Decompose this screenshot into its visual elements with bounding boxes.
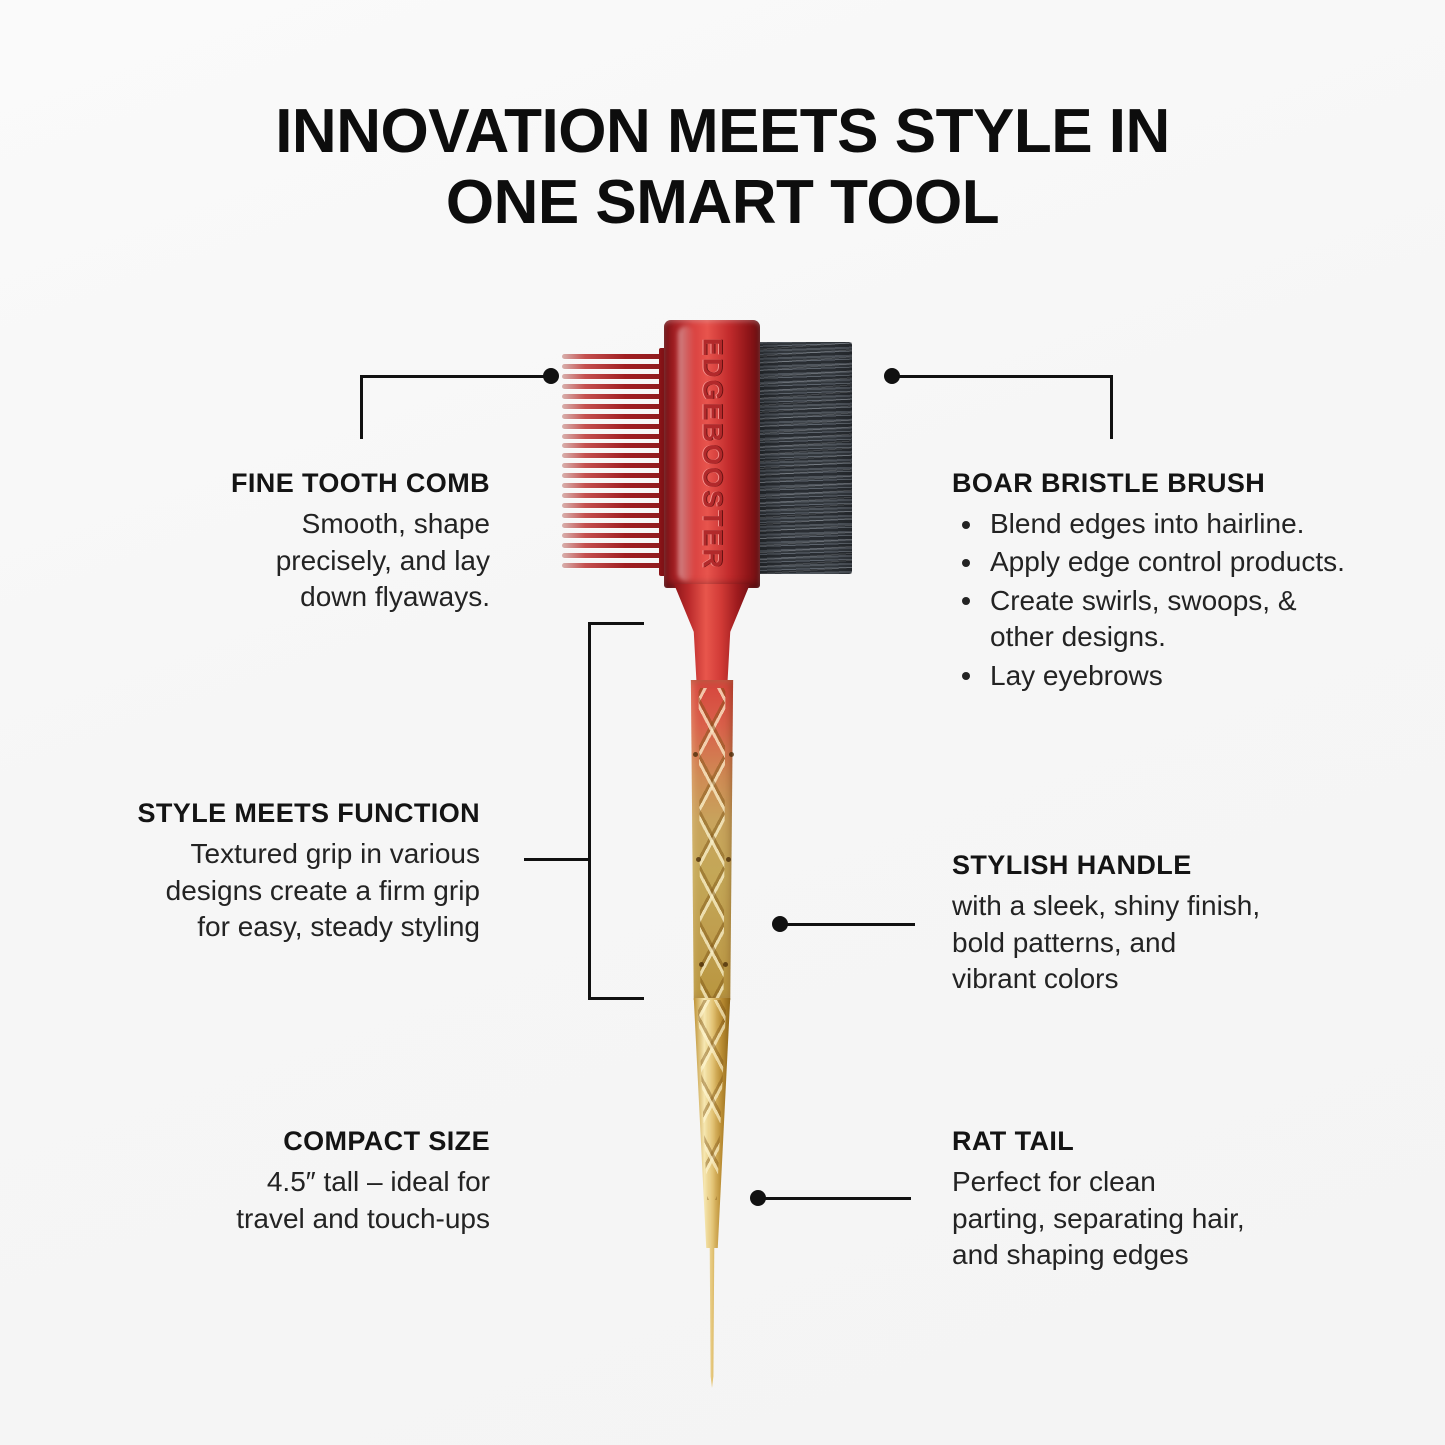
callout-body-line: and shaping edges <box>952 1237 1352 1274</box>
fine-tooth-comb-part <box>562 354 668 568</box>
leader-horizontal <box>895 375 1113 378</box>
callout-style-meets-function: STYLE MEETS FUNCTION Textured grip in va… <box>70 798 480 946</box>
comb-tooth <box>562 513 668 518</box>
list-item: Blend edges into hairline. <box>952 506 1352 542</box>
comb-tooth <box>562 443 668 448</box>
comb-tooth <box>562 503 668 508</box>
comb-tooth <box>562 523 668 528</box>
leader-vertical <box>1110 375 1113 439</box>
callout-body-line: 4.5″ tall – ideal for <box>120 1164 490 1201</box>
comb-tooth <box>562 424 668 429</box>
callout-body: 4.5″ tall – ideal for travel and touch-u… <box>120 1164 490 1237</box>
comb-tooth <box>562 533 668 538</box>
comb-tooth <box>562 354 668 359</box>
comb-tooth <box>562 374 668 379</box>
callout-title: STYLE MEETS FUNCTION <box>70 798 480 829</box>
page-title: INNOVATION MEETS STYLE IN ONE SMART TOOL <box>0 96 1445 239</box>
comb-tooth <box>562 493 668 498</box>
bullet-text: Apply edge control products. <box>990 544 1352 580</box>
comb-tooth <box>562 394 668 399</box>
comb-tooth <box>562 543 668 548</box>
comb-tooth <box>562 414 668 419</box>
grip-screw-dot <box>693 752 698 757</box>
headline-line-2: ONE SMART TOOL <box>0 167 1445 238</box>
bullet-text: Lay eyebrows <box>990 658 1352 694</box>
callout-stylish-handle: STYLISH HANDLE with a sleek, shiny finis… <box>952 850 1352 998</box>
comb-tooth <box>562 563 668 568</box>
callout-body: Perfect for clean parting, separating ha… <box>952 1164 1352 1274</box>
callout-boar-bristle-brush: BOAR BRISTLE BRUSH Blend edges into hair… <box>952 468 1352 696</box>
callout-body-line: Perfect for clean <box>952 1164 1352 1201</box>
bracket-bottom-arm <box>588 997 644 1000</box>
comb-tooth <box>562 404 668 409</box>
brand-logo-text: EDGEBOOSTER <box>697 338 728 570</box>
bullet-text: Blend edges into hairline. <box>990 506 1352 542</box>
callout-body-line: parting, separating hair, <box>952 1201 1352 1238</box>
bullet-dot-icon <box>962 597 970 605</box>
comb-tooth <box>562 384 668 389</box>
leader-horizontal <box>761 1197 911 1200</box>
callout-body-line: vibrant colors <box>952 961 1352 998</box>
callout-body: Smooth, shape precisely, and lay down fl… <box>120 506 490 616</box>
grip-screw-dot <box>699 962 704 967</box>
callout-compact-size: COMPACT SIZE 4.5″ tall – ideal for trave… <box>120 1126 490 1237</box>
bullet-dot-icon <box>962 672 970 680</box>
callout-body: Textured grip in various designs create … <box>70 836 480 946</box>
callout-title: STYLISH HANDLE <box>952 850 1352 881</box>
comb-tooth <box>562 453 668 458</box>
comb-tooth <box>562 364 668 369</box>
leader-horizontal <box>783 923 915 926</box>
leader-vertical <box>360 375 363 439</box>
infographic-canvas: INNOVATION MEETS STYLE IN ONE SMART TOOL <box>0 0 1445 1445</box>
brush-body-block: EDGEBOOSTER <box>664 320 760 588</box>
callout-title: FINE TOOTH COMB <box>120 468 490 499</box>
callout-rat-tail: RAT TAIL Perfect for clean parting, sepa… <box>952 1126 1352 1274</box>
bracket-vertical <box>588 622 591 1000</box>
boar-bristle-part <box>756 342 852 574</box>
callout-body-line: bold patterns, and <box>952 925 1352 962</box>
brush-neck <box>674 584 750 688</box>
grip-screw-dot <box>726 857 731 862</box>
bracket-top-arm <box>588 622 644 625</box>
grip-screw-dot <box>696 857 701 862</box>
callout-title: COMPACT SIZE <box>120 1126 490 1157</box>
grip-screw-dot <box>723 962 728 967</box>
list-item: Create swirls, swoops, & other designs. <box>952 583 1352 656</box>
list-item: Lay eyebrows <box>952 658 1352 694</box>
bullet-text: Create swirls, swoops, & other designs. <box>990 583 1352 656</box>
callout-body-line: precisely, and lay <box>120 543 490 580</box>
callout-body-line: for easy, steady styling <box>70 909 480 946</box>
headline-line-1: INNOVATION MEETS STYLE IN <box>0 96 1445 167</box>
product-image-edgebooster-brush: EDGEBOOSTER <box>556 312 896 1392</box>
comb-tooth <box>562 434 668 439</box>
bullet-dot-icon <box>962 559 970 567</box>
callout-body-line: travel and touch-ups <box>120 1201 490 1238</box>
callout-body-line: Textured grip in various <box>70 836 480 873</box>
callout-body-line: with a sleek, shiny finish, <box>952 888 1352 925</box>
callout-bullet-list: Blend edges into hairline. Apply edge co… <box>952 506 1352 694</box>
textured-grip <box>688 680 736 1000</box>
comb-tooth <box>562 483 668 488</box>
comb-tooth <box>562 473 668 478</box>
grip-screw-dot <box>729 752 734 757</box>
callout-title: RAT TAIL <box>952 1126 1352 1157</box>
callout-body: with a sleek, shiny finish, bold pattern… <box>952 888 1352 998</box>
comb-tooth <box>562 553 668 558</box>
comb-tooth <box>562 463 668 468</box>
bullet-dot-icon <box>962 521 970 529</box>
callout-body-line: down flyaways. <box>120 579 490 616</box>
callout-fine-tooth-comb: FINE TOOTH COMB Smooth, shape precisely,… <box>120 468 490 616</box>
leader-horizontal <box>360 375 550 378</box>
list-item: Apply edge control products. <box>952 544 1352 580</box>
callout-body-line: Smooth, shape <box>120 506 490 543</box>
bracket-stem <box>524 858 590 861</box>
callout-body-line: designs create a firm grip <box>70 873 480 910</box>
callout-title: BOAR BRISTLE BRUSH <box>952 468 1352 499</box>
